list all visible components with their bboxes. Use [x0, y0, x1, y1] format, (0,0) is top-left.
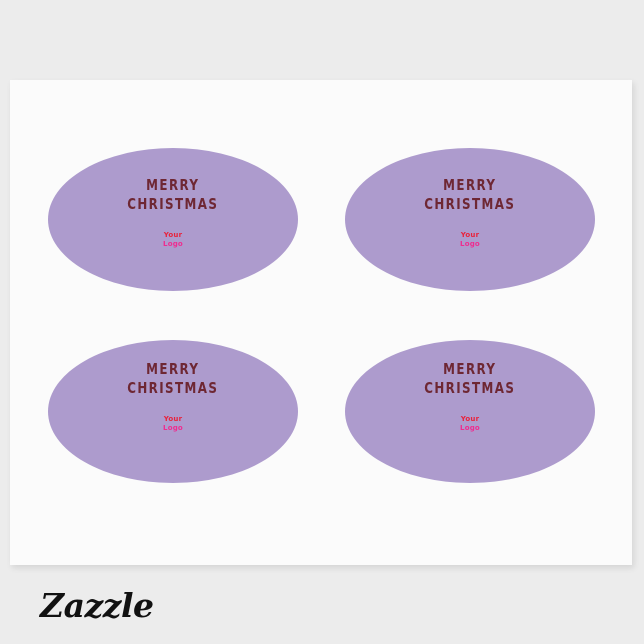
- sticker-content: MERRY CHRISTMAS Your Logo: [345, 148, 595, 291]
- sticker-greeting-line-1: MERRY: [443, 360, 496, 378]
- sticker-logo-line-2: Logo: [163, 240, 183, 249]
- sticker-logo-placeholder[interactable]: Your Logo: [460, 415, 480, 433]
- sticker-logo-line-2: Logo: [460, 424, 480, 433]
- sticker-greeting-line-1: MERRY: [146, 176, 199, 194]
- sticker-logo-line-1: Your: [460, 231, 480, 240]
- sticker-oval-bottom-left[interactable]: MERRY CHRISTMAS Your Logo: [48, 340, 298, 483]
- sticker-logo-line-2: Logo: [163, 424, 183, 433]
- sticker-greeting-line-1: MERRY: [443, 176, 496, 194]
- sticker-greeting: MERRY CHRISTMAS: [127, 176, 218, 214]
- sticker-sheet: MERRY CHRISTMAS Your Logo MERRY CHRISTMA…: [10, 80, 632, 565]
- sticker-logo-placeholder[interactable]: Your Logo: [163, 415, 183, 433]
- brand-watermark: Zazzle: [40, 586, 153, 625]
- sticker-logo-line-1: Your: [163, 231, 183, 240]
- sticker-logo-placeholder[interactable]: Your Logo: [163, 231, 183, 249]
- sticker-oval-bottom-right[interactable]: MERRY CHRISTMAS Your Logo: [345, 340, 595, 483]
- sticker-content: MERRY CHRISTMAS Your Logo: [48, 340, 298, 483]
- sticker-greeting-line-1: MERRY: [146, 360, 199, 378]
- sticker-greeting-line-2: CHRISTMAS: [127, 379, 218, 398]
- sticker-oval-top-right[interactable]: MERRY CHRISTMAS Your Logo: [345, 148, 595, 291]
- sticker-logo-line-2: Logo: [460, 240, 480, 249]
- sticker-logo-line-1: Your: [460, 415, 480, 424]
- sticker-logo-line-1: Your: [163, 415, 183, 424]
- sticker-grid: MERRY CHRISTMAS Your Logo MERRY CHRISTMA…: [10, 80, 632, 565]
- sticker-greeting: MERRY CHRISTMAS: [127, 360, 218, 398]
- sticker-greeting: MERRY CHRISTMAS: [424, 360, 515, 398]
- sticker-logo-placeholder[interactable]: Your Logo: [460, 231, 480, 249]
- sticker-oval-top-left[interactable]: MERRY CHRISTMAS Your Logo: [48, 148, 298, 291]
- sticker-greeting: MERRY CHRISTMAS: [424, 176, 515, 214]
- sticker-greeting-line-2: CHRISTMAS: [424, 195, 515, 214]
- sticker-content: MERRY CHRISTMAS Your Logo: [345, 340, 595, 483]
- sticker-greeting-line-2: CHRISTMAS: [424, 379, 515, 398]
- sticker-greeting-line-2: CHRISTMAS: [127, 195, 218, 214]
- sticker-content: MERRY CHRISTMAS Your Logo: [48, 148, 298, 291]
